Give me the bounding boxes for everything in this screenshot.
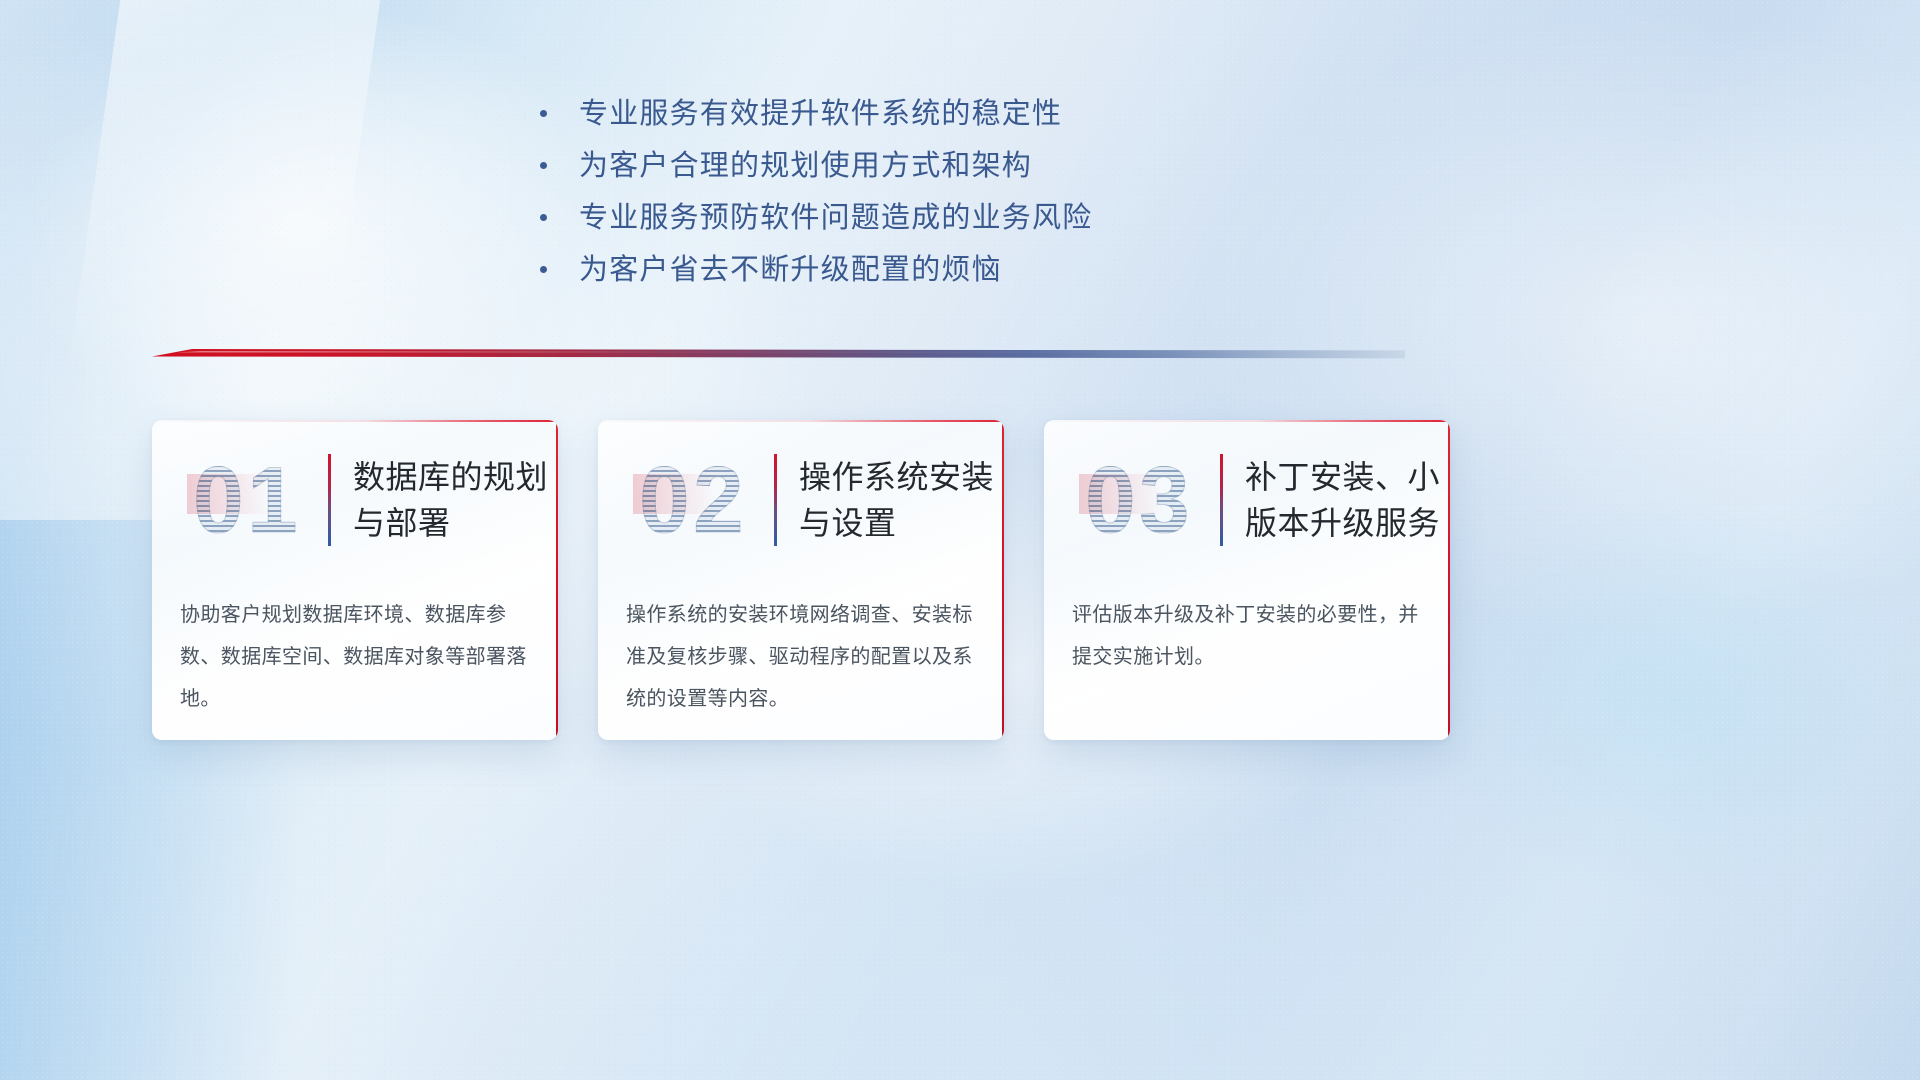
card-number-text: 02 (639, 453, 747, 547)
card-number-badge: 03 03 (1064, 441, 1214, 559)
card-number-text: 01 (193, 453, 301, 547)
bullet-text: 为客户省去不断升级配置的烦恼 (579, 248, 1002, 292)
card-title: 补丁安装、小版本升级服务 (1245, 454, 1450, 546)
card-number-badge: 01 01 (172, 441, 322, 559)
card-header: 02 02 操作系统安装与设置 (598, 420, 1004, 580)
list-item: 专业服务预防软件问题造成的业务风险 (540, 196, 1540, 248)
card-03[interactable]: 03 03 补丁安装、小版本升级服务 评估版本升级及补丁安装的必要性，并提交实施… (1044, 420, 1450, 740)
card-header: 03 03 补丁安装、小版本升级服务 (1044, 420, 1450, 580)
card-title: 数据库的规划与部署 (353, 454, 558, 546)
divider-blade (152, 349, 1405, 361)
bullet-dot-icon (540, 214, 547, 221)
card-body-text: 操作系统的安装环境网络调查、安装标准及复核步骤、驱动程序的配置以及系统的设置等内… (598, 580, 1004, 720)
card-divider-bar (1220, 454, 1223, 546)
card-02[interactable]: 02 02 操作系统安装与设置 操作系统的安装环境网络调查、安装标准及复核步骤、… (598, 420, 1004, 740)
gradient-divider-line (152, 349, 1405, 361)
list-item: 为客户合理的规划使用方式和架构 (540, 144, 1540, 196)
list-item: 为客户省去不断升级配置的烦恼 (540, 248, 1540, 300)
card-body-text: 评估版本升级及补丁安装的必要性，并提交实施计划。 (1044, 580, 1450, 678)
bullet-text: 专业服务有效提升软件系统的稳定性 (579, 92, 1062, 136)
card-group: 01 01 数据库的规划与部署 协助客户规划数据库环境、数据库参数、数据库空间、… (152, 420, 1452, 740)
card-number-badge: 02 02 (618, 441, 768, 559)
light-glow-streak (60, 0, 380, 430)
bullet-text: 为客户合理的规划使用方式和架构 (579, 144, 1032, 188)
bullet-dot-icon (540, 162, 547, 169)
card-01[interactable]: 01 01 数据库的规划与部署 协助客户规划数据库环境、数据库参数、数据库空间、… (152, 420, 558, 740)
card-divider-bar (774, 454, 777, 546)
card-body-text: 协助客户规划数据库环境、数据库参数、数据库空间、数据库对象等部署落地。 (152, 580, 558, 720)
bullet-dot-icon (540, 266, 547, 273)
slide-root: 专业服务有效提升软件系统的稳定性 为客户合理的规划使用方式和架构 专业服务预防软… (0, 0, 1920, 1080)
bullet-list: 专业服务有效提升软件系统的稳定性 为客户合理的规划使用方式和架构 专业服务预防软… (540, 92, 1540, 300)
bullet-text: 专业服务预防软件问题造成的业务风险 (579, 196, 1092, 240)
card-header: 01 01 数据库的规划与部署 (152, 420, 558, 580)
list-item: 专业服务有效提升软件系统的稳定性 (540, 92, 1540, 144)
card-divider-bar (328, 454, 331, 546)
card-number-text: 03 (1085, 453, 1193, 547)
card-title: 操作系统安装与设置 (799, 454, 1004, 546)
bullet-dot-icon (540, 110, 547, 117)
